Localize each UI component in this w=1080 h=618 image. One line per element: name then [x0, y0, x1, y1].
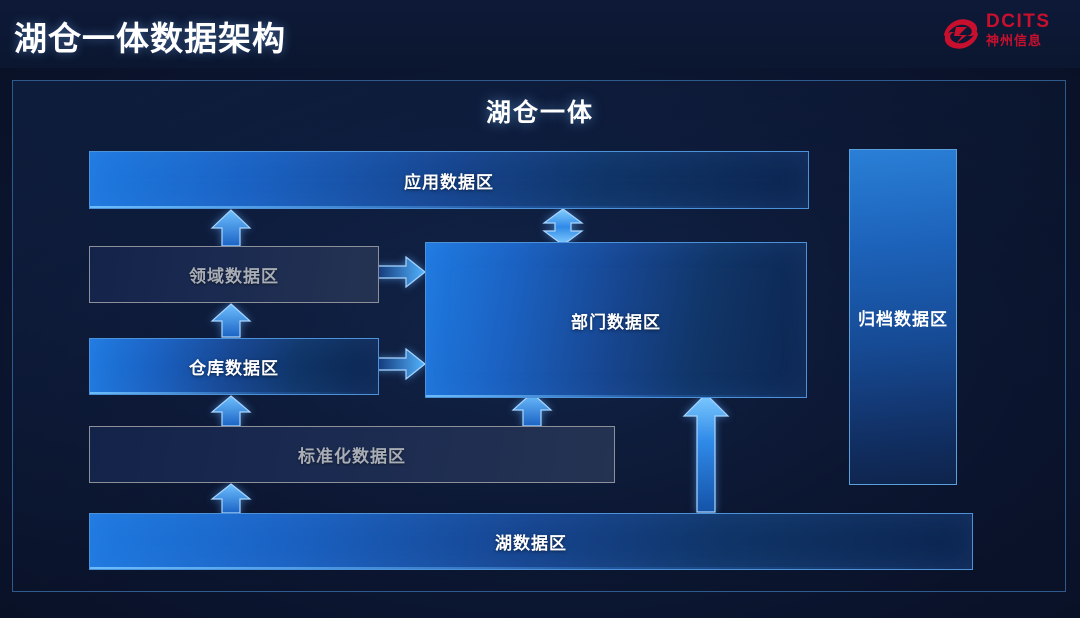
zone-archive-data-label: 归档数据区 [858, 305, 948, 330]
slide-canvas: 湖仓一体数据架构 DCITS 神州信息 湖仓一体 [0, 0, 1080, 618]
page-title: 湖仓一体数据架构 [14, 12, 286, 60]
diagram-frame: 湖仓一体 [12, 80, 1066, 592]
zone-domain-data[interactable]: 领域数据区 [89, 246, 379, 303]
arrow-domain-to-dept-icon [377, 255, 427, 289]
logo-en-text: DCITS [986, 12, 1064, 32]
zone-warehouse-data-label: 仓库数据区 [189, 354, 279, 379]
zone-lake-data[interactable]: 湖数据区 [89, 513, 973, 570]
arrow-warehouse-to-dept-icon [377, 347, 427, 381]
arrow-app-dept-bidirectional-icon [541, 208, 585, 246]
zone-warehouse-data[interactable]: 仓库数据区 [89, 338, 379, 395]
logo-wordmark: DCITS 神州信息 [986, 12, 1064, 49]
diagram-title: 湖仓一体 [13, 93, 1067, 129]
logo-cn-text: 神州信息 [986, 32, 1064, 49]
zone-dept-data[interactable]: 部门数据区 [425, 242, 807, 398]
slide-header: 湖仓一体数据架构 DCITS 神州信息 [0, 0, 1080, 68]
arrow-standard-to-warehouse-icon [209, 395, 253, 427]
arrow-domain-to-app-icon [209, 209, 253, 247]
arrow-lake-to-standard-icon [209, 483, 253, 514]
arrow-lake-to-dept-icon [681, 392, 731, 514]
zone-dept-data-label: 部门数据区 [571, 308, 661, 333]
company-logo: DCITS 神州信息 [940, 10, 1064, 58]
zone-lake-data-label: 湖数据区 [495, 529, 567, 554]
dcits-swirl-icon [940, 14, 982, 54]
zone-standard-data[interactable]: 标准化数据区 [89, 426, 615, 483]
zone-domain-data-label: 领域数据区 [189, 262, 279, 287]
zone-archive-data[interactable]: 归档数据区 [849, 149, 957, 485]
zone-app-data[interactable]: 应用数据区 [89, 151, 809, 209]
arrow-warehouse-to-domain-icon [209, 303, 253, 338]
zone-app-data-label: 应用数据区 [404, 168, 494, 193]
zone-standard-data-label: 标准化数据区 [298, 442, 406, 467]
